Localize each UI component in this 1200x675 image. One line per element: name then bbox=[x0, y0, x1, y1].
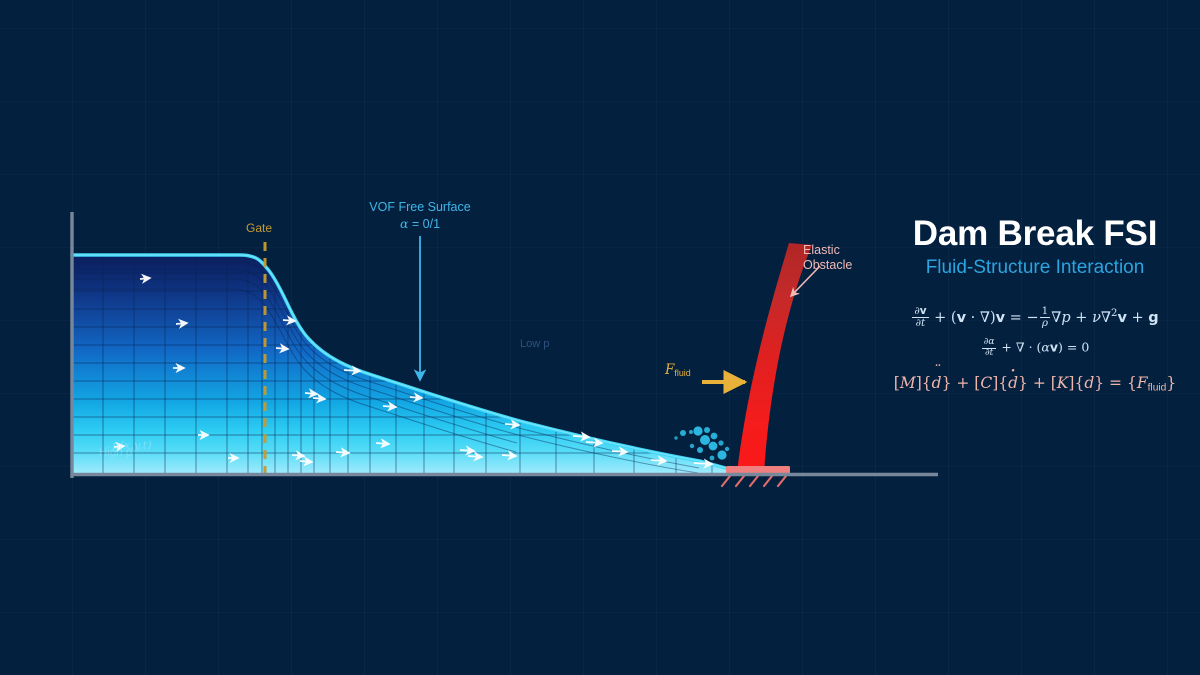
elastic-obstacle-label: Elastic Obstacle bbox=[803, 243, 852, 273]
equation-structural-dynamics: [M]{d} + [C]{d} + [K]{d} = {Ffluid} bbox=[880, 372, 1190, 396]
vof-label-line1: VOF Free Surface bbox=[361, 199, 479, 216]
fluid-force-symbol: F bbox=[665, 362, 674, 378]
fluid-force-subscript: fluid bbox=[674, 368, 690, 378]
fluid-force-label: Ffluid bbox=[665, 362, 691, 378]
high-pressure-label: High p bbox=[99, 447, 132, 459]
diagram-canvas: VOF Free Surface α = 0/1 Gate Elastic Ob… bbox=[0, 0, 1200, 675]
vof-free-surface-label: VOF Free Surface α = 0/1 bbox=[361, 199, 479, 233]
page-title: Dam Break FSI bbox=[880, 216, 1190, 253]
low-pressure-label: Low p bbox=[520, 338, 549, 350]
elastic-obstacle[interactable] bbox=[722, 243, 812, 486]
info-panel: Dam Break FSI Fluid-Structure Interactio… bbox=[880, 216, 1190, 405]
splash-droplets bbox=[674, 426, 729, 460]
gate-label: Gate bbox=[246, 221, 272, 235]
equation-block: ∂v∂t + (v · ∇)v = −1ρ∇p + ν∇2v + g ∂α∂t … bbox=[880, 306, 1190, 396]
equation-navier-stokes: ∂v∂t + (v · ∇)v = −1ρ∇p + ν∇2v + g bbox=[880, 306, 1190, 330]
equation-vof-transport: ∂α∂t + ∇ · (αv) = 0 bbox=[880, 338, 1190, 358]
obstacle-beam[interactable] bbox=[737, 243, 812, 473]
elastic-label-line1: Elastic bbox=[803, 243, 852, 258]
page-subtitle: Fluid-Structure Interaction bbox=[880, 257, 1190, 280]
alpha-value: = 0/1 bbox=[408, 217, 440, 231]
elastic-label-line2: Obstacle bbox=[803, 258, 852, 273]
water-fill bbox=[72, 255, 733, 473]
fixed-support-hatching bbox=[722, 476, 786, 486]
vof-label-line2: α = 0/1 bbox=[361, 216, 479, 233]
water-body bbox=[72, 250, 740, 480]
